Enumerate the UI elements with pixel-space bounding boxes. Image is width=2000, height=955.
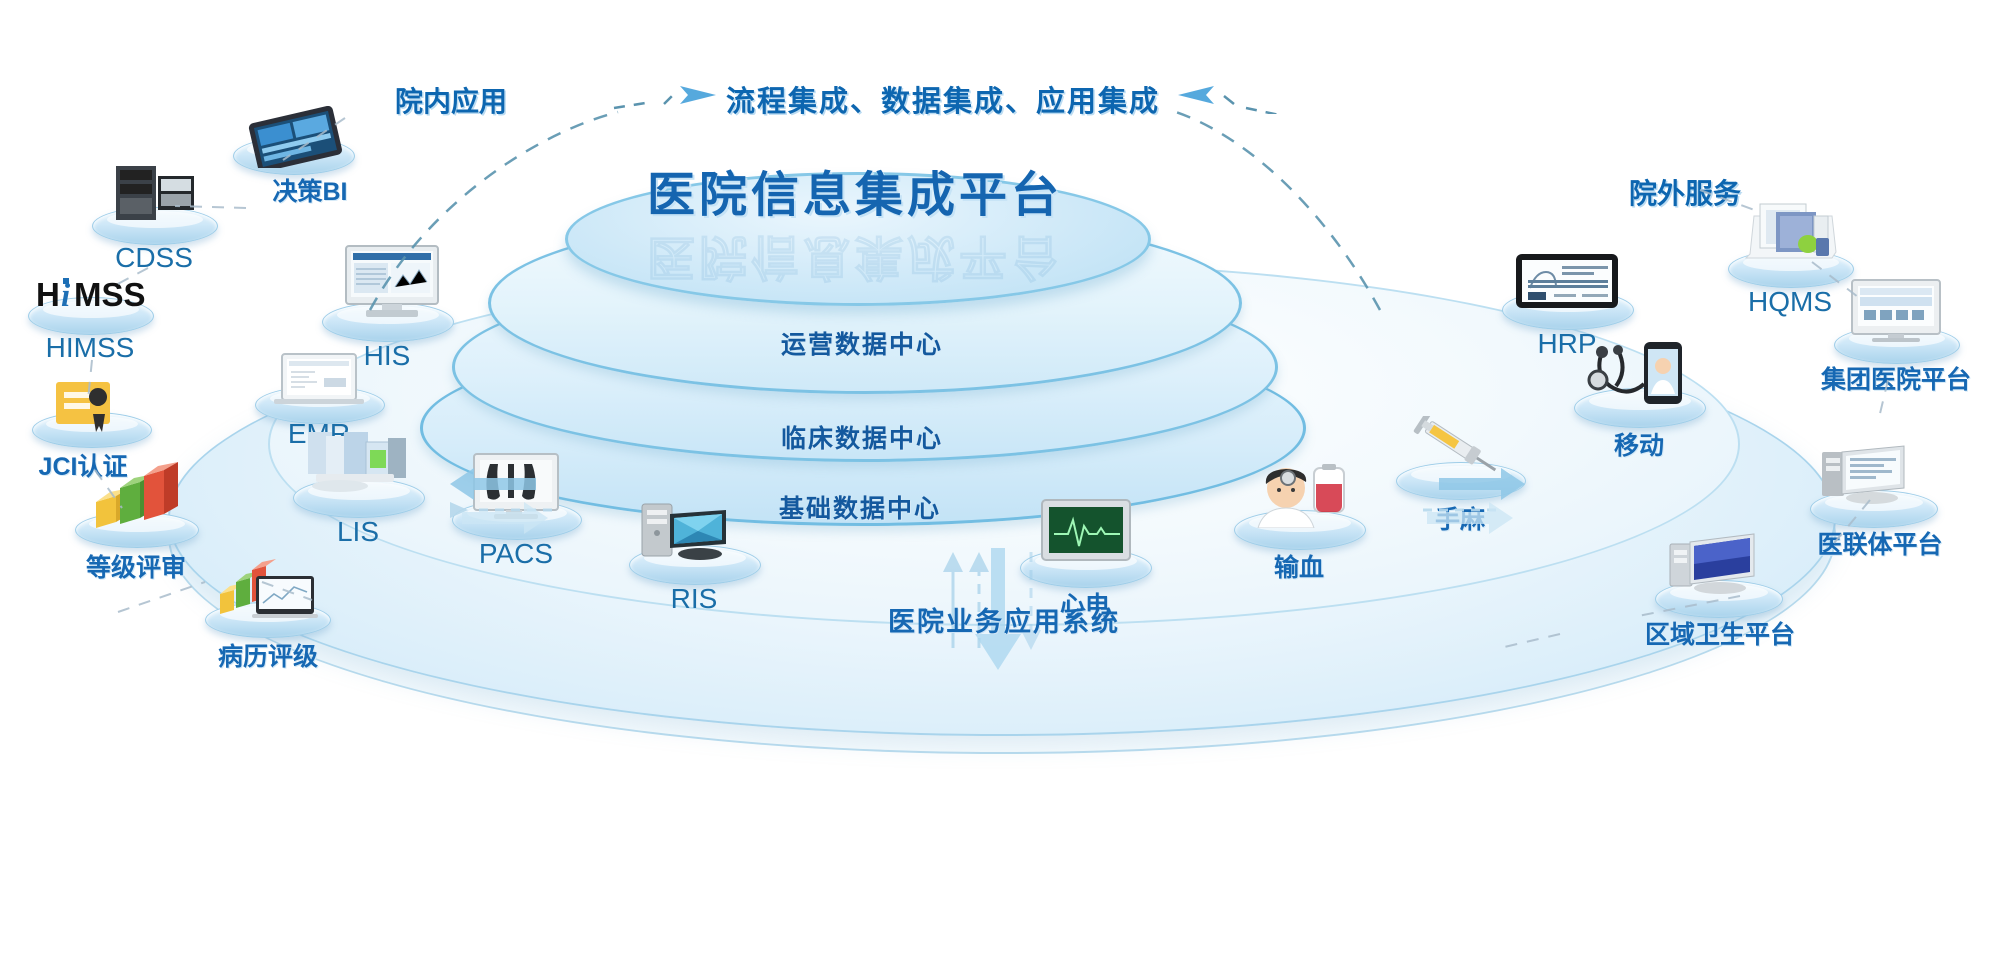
banner-right-arrow-icon xyxy=(1172,78,1362,114)
layer-label-clinical-data-center: 临床数据中心 xyxy=(452,419,1272,455)
right-bidirectional-arrows-icon xyxy=(1405,458,1535,538)
business-systems-label: 医院业务应用系统 xyxy=(888,600,1120,639)
diagram-canvas: 流程集成、数据集成、应用集成 院内应用 院外服务 基础数据中心 临床数据中心 运… xyxy=(0,0,2000,955)
platform-title: 医院信息集成平台 xyxy=(565,172,1145,220)
layer-label-operation-data-center: 运营数据中心 xyxy=(488,325,1236,361)
banner-left-arrow-icon xyxy=(612,78,802,114)
layer-label-base-data-center: 基础数据中心 xyxy=(420,489,1300,525)
